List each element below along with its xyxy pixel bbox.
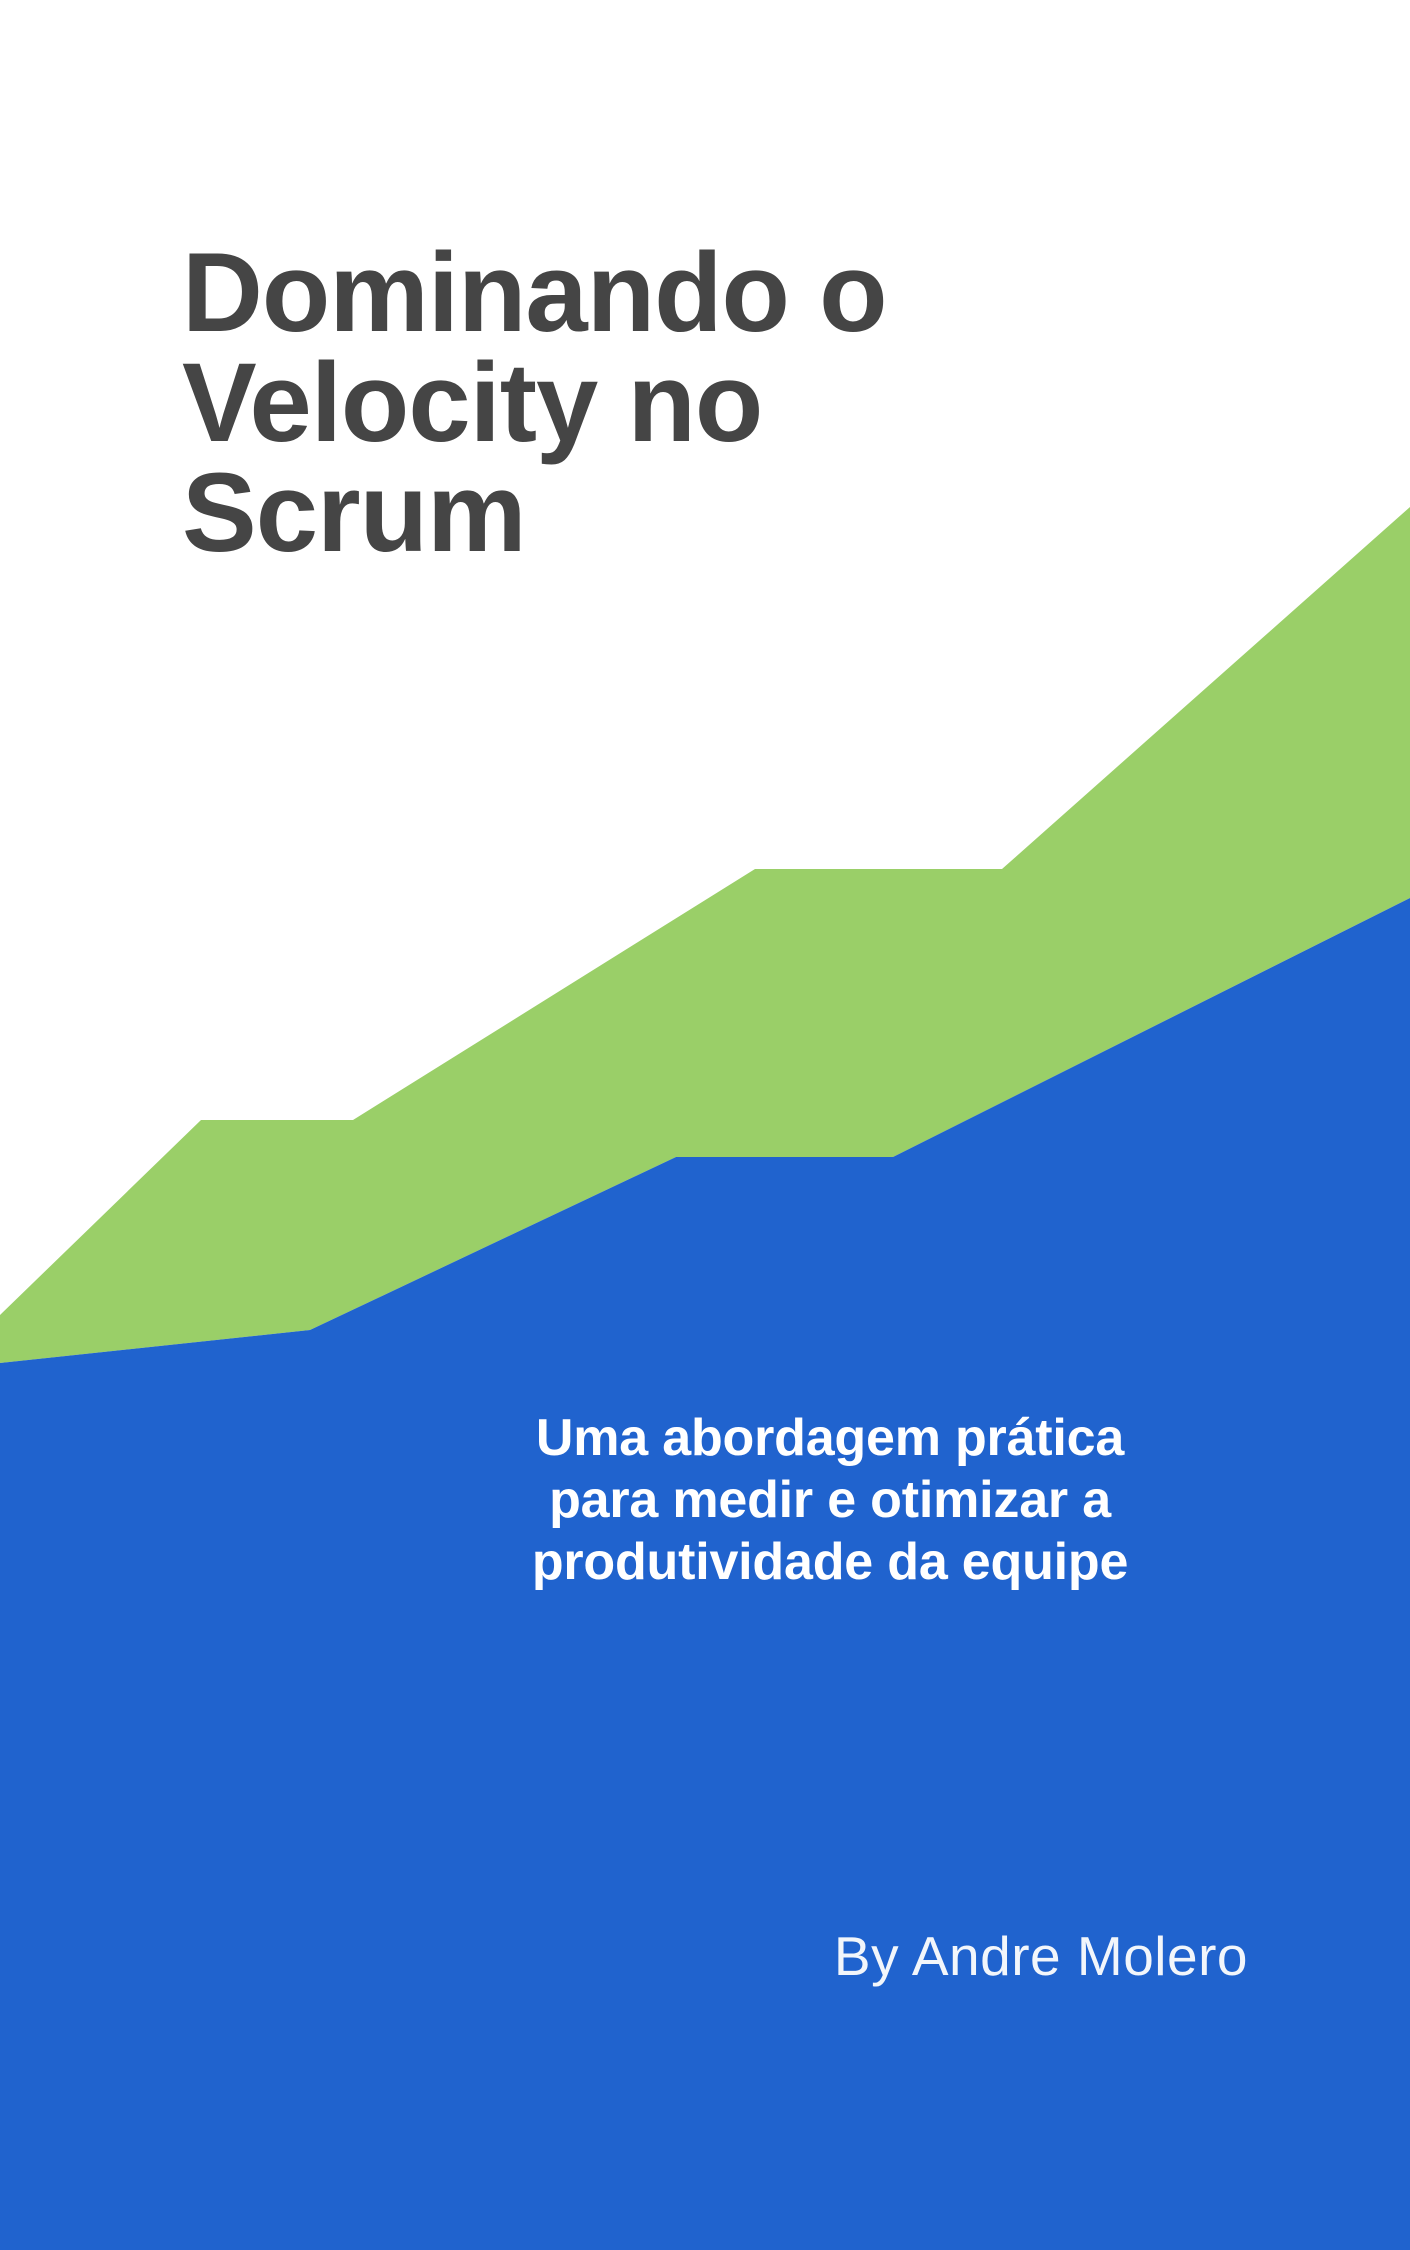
author-byline: By Andre Molero — [420, 1925, 1248, 1987]
subtitle-line-3: produtividade da equipe — [420, 1531, 1240, 1593]
book-cover: Dominando o Velocity no Scrum Uma aborda… — [0, 0, 1410, 2250]
subtitle-line-2: para medir e otimizar a — [420, 1469, 1240, 1531]
author-name: By Andre Molero — [834, 1925, 1248, 1987]
page-title: Dominando o Velocity no Scrum — [182, 238, 1082, 568]
subtitle: Uma abordagem prática para medir e otimi… — [420, 1407, 1240, 1593]
title-line-2: Velocity no — [182, 348, 1082, 458]
title-line-3: Scrum — [182, 458, 1082, 568]
title-line-1: Dominando o — [182, 238, 1082, 348]
subtitle-line-1: Uma abordagem prática — [420, 1407, 1240, 1469]
